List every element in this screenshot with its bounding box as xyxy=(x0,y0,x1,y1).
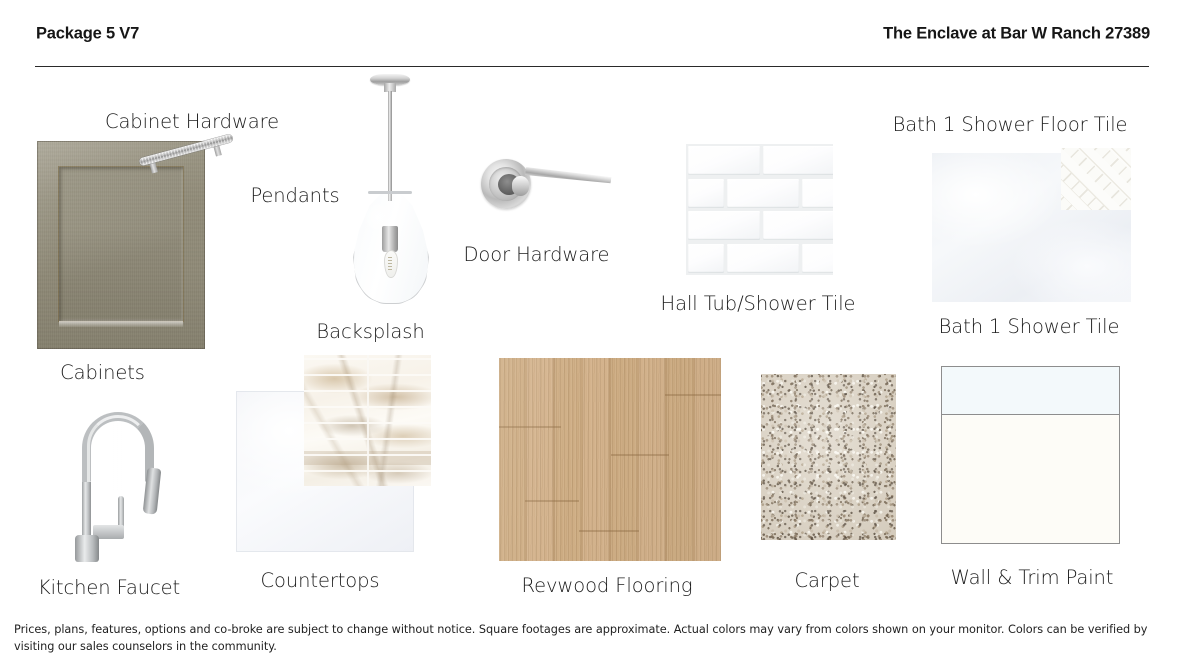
faucet-arc-highlight xyxy=(87,415,149,487)
label-bath1-shower-tile: Bath 1 Shower Tile xyxy=(938,315,1120,338)
label-cabinets: Cabinets xyxy=(25,361,180,384)
package-title: Package 5 V7 xyxy=(36,25,139,44)
swatch-hall-tub-shower-tile[interactable] xyxy=(686,144,833,275)
trim-paint-band xyxy=(942,367,1119,415)
backsplash-vertical-grout xyxy=(304,355,431,486)
label-hall-tub-shower-tile: Hall Tub/Shower Tile xyxy=(655,292,861,315)
label-bath1-shower-floor-tile: Bath 1 Shower Floor Tile xyxy=(890,113,1130,136)
flooring-sheen xyxy=(499,358,721,561)
subway-tile xyxy=(688,244,724,273)
label-door-hardware: Door Hardware xyxy=(459,243,614,266)
swatch-pendants[interactable] xyxy=(341,74,439,304)
swatch-door-hardware[interactable] xyxy=(481,155,613,215)
swatch-bath1-shower-floor-tile[interactable] xyxy=(1061,148,1131,210)
label-kitchen-faucet: Kitchen Faucet xyxy=(33,576,185,599)
label-backsplash: Backsplash xyxy=(313,320,428,343)
label-pendants: Pendants xyxy=(247,184,343,207)
subway-tile xyxy=(802,244,833,273)
label-countertops: Countertops xyxy=(257,569,383,592)
footer-disclaimer: Prices, plans, features, options and co-… xyxy=(14,622,1156,655)
subway-tile-row xyxy=(686,242,833,275)
label-wall-trim-paint: Wall & Trim Paint xyxy=(946,566,1118,589)
pendant-shade-rim xyxy=(368,191,412,194)
subway-tile xyxy=(688,146,760,175)
board-header: Package 5 V7 The Enclave at Bar W Ranch … xyxy=(0,0,1182,68)
swatch-revwood-flooring[interactable] xyxy=(499,358,721,561)
herringbone-course-b xyxy=(1061,148,1131,210)
subway-tile xyxy=(688,179,724,208)
swatch-backsplash[interactable] xyxy=(304,355,431,486)
label-revwood-flooring: Revwood Flooring xyxy=(516,574,698,597)
subway-tile xyxy=(763,146,833,175)
subway-tile xyxy=(802,179,833,208)
swatch-wall-trim-paint[interactable] xyxy=(941,366,1120,544)
swatch-carpet[interactable] xyxy=(761,374,896,540)
label-cabinet-hardware: Cabinet Hardware xyxy=(102,110,282,133)
subway-tile xyxy=(688,211,760,240)
community-title: The Enclave at Bar W Ranch 27389 xyxy=(883,25,1150,44)
subway-tile xyxy=(727,179,799,208)
pendant-socket xyxy=(382,226,398,252)
header-divider xyxy=(35,66,1149,67)
subway-tile xyxy=(727,244,799,273)
swatch-cabinet-hardware[interactable] xyxy=(138,130,234,180)
faucet-base xyxy=(75,535,99,562)
pendant-stem xyxy=(388,91,392,201)
carpet-pile-shading xyxy=(761,374,896,540)
subway-tile-row xyxy=(686,210,833,243)
subway-tile-row xyxy=(686,177,833,210)
swatch-kitchen-faucet[interactable] xyxy=(66,412,182,562)
pendant-filament xyxy=(388,256,392,270)
subway-tile-row xyxy=(686,144,833,177)
subway-tile xyxy=(763,211,833,240)
door-lever-grip xyxy=(512,176,529,196)
label-carpet: Carpet xyxy=(793,569,861,592)
design-package-board: Package 5 V7 The Enclave at Bar W Ranch … xyxy=(0,0,1182,665)
door-lever-arm xyxy=(525,165,612,187)
wall-paint-field xyxy=(942,416,1119,543)
